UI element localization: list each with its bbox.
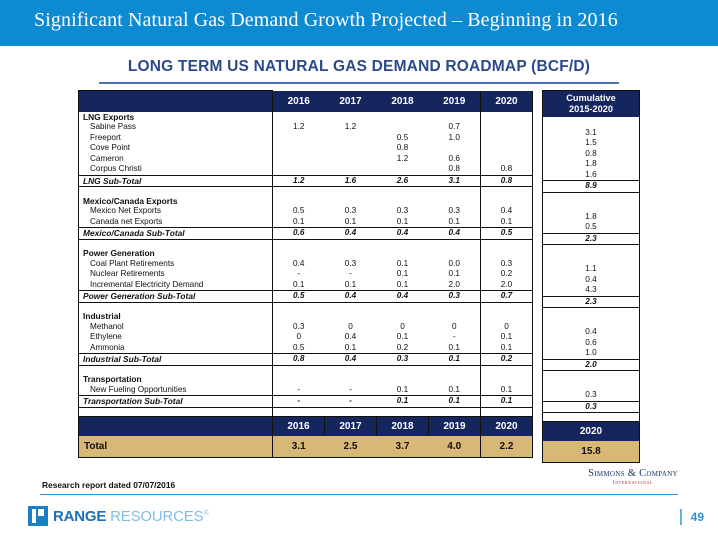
row-cumulative-value: 0.3 xyxy=(543,390,640,401)
table-row-cumulative: 4.3 xyxy=(543,285,640,296)
row-label: Ammonia xyxy=(79,343,273,354)
subtotal-row: LNG Sub-Total1.21.62.63.10.8 xyxy=(79,175,533,187)
totals-value: 4.0 xyxy=(429,436,481,458)
page-number: 49 xyxy=(680,509,704,525)
row-value xyxy=(273,164,325,175)
row-value: 0 xyxy=(273,332,325,343)
row-value: 0.1 xyxy=(377,332,429,343)
table-row: Sabine Pass1.21.20.7 xyxy=(79,122,533,133)
section-title-blank-cumulative xyxy=(543,317,640,328)
section-title-blank xyxy=(429,248,481,259)
table-row: Corpus Christi0.80.8 xyxy=(79,164,533,175)
subtotal-value: 0.1 xyxy=(429,396,481,408)
row-label: Coal Plant Retirements xyxy=(79,259,273,270)
section-title-blank xyxy=(325,196,377,207)
totals-header-row-cumulative: 2020 xyxy=(543,422,640,442)
spacer-cell xyxy=(429,239,481,248)
column-header-2017: 2017 xyxy=(325,91,377,112)
subtotal-cumulative-value: 2.0 xyxy=(543,359,640,371)
totals-spacer-cell xyxy=(273,407,325,416)
table-row-cumulative: 0.6 xyxy=(543,338,640,349)
totals-column-header-2018: 2018 xyxy=(377,416,429,436)
spacer-cell xyxy=(377,302,429,311)
subtotal-row-cumulative: 0.3 xyxy=(543,401,640,413)
row-value xyxy=(325,164,377,175)
row-value: 0.1 xyxy=(481,385,533,396)
table-row: Incremental Electricity Demand0.10.10.12… xyxy=(79,280,533,291)
row-value xyxy=(273,133,325,144)
section-title-blank-cumulative xyxy=(543,117,640,128)
totals-row: Total3.12.53.74.02.2 xyxy=(79,436,533,458)
subtotal-value: 0.5 xyxy=(481,228,533,240)
row-value: 0.1 xyxy=(325,280,377,291)
subtotal-value: 0.4 xyxy=(377,291,429,303)
row-value xyxy=(429,143,481,154)
section-title-blank xyxy=(325,374,377,385)
cumulative-table: Cumulative2015-20203.11.50.81.81.68.91.8… xyxy=(542,90,640,463)
range-logo-text: RANGE RESOURCES® xyxy=(53,508,209,525)
row-value xyxy=(325,154,377,165)
row-cumulative-value: 4.3 xyxy=(543,285,640,296)
row-value: - xyxy=(325,385,377,396)
subtotal-cumulative-value: 2.3 xyxy=(543,233,640,245)
table-row: Ammonia0.50.10.20.10.1 xyxy=(79,343,533,354)
row-label: Corpus Christi xyxy=(79,164,273,175)
table-row-cumulative: 0.3 xyxy=(543,390,640,401)
subtotal-value: 0.3 xyxy=(429,291,481,303)
footer-divider xyxy=(40,494,678,495)
section-title-blank xyxy=(377,248,429,259)
row-value: - xyxy=(325,269,377,280)
section-spacer xyxy=(79,365,533,374)
spacer-cell xyxy=(377,365,429,374)
row-value: 1.2 xyxy=(325,122,377,133)
section-title-blank xyxy=(429,374,481,385)
table-row: Mexico Net Exports0.50.30.30.30.4 xyxy=(79,206,533,217)
row-label: Freeport xyxy=(79,133,273,144)
section-title-blank xyxy=(273,196,325,207)
row-value: 0.1 xyxy=(429,217,481,228)
section-spacer xyxy=(79,187,533,196)
row-cumulative-value: 0.4 xyxy=(543,275,640,286)
table-row-cumulative: 1.8 xyxy=(543,212,640,223)
registered-mark-icon: ® xyxy=(203,510,208,517)
row-cumulative-value: 0.6 xyxy=(543,338,640,349)
subtotal-row: Industrial Sub-Total0.80.40.30.10.2 xyxy=(79,354,533,366)
section-spacer xyxy=(79,239,533,248)
subtotal-value: 0.1 xyxy=(481,396,533,408)
spacer-label xyxy=(79,187,273,196)
table-row-cumulative: 1.5 xyxy=(543,138,640,149)
row-value: 0.8 xyxy=(377,143,429,154)
subtotal-value: 2.6 xyxy=(377,175,429,187)
column-header-2019: 2019 xyxy=(429,91,481,112)
subtotal-row-cumulative: 2.3 xyxy=(543,233,640,245)
row-value: 0.1 xyxy=(429,343,481,354)
section-title-row: Mexico/Canada Exports xyxy=(79,196,533,207)
row-label: Mexico Net Exports xyxy=(79,206,273,217)
row-cumulative-value: 1.0 xyxy=(543,348,640,359)
spacer-cell xyxy=(325,239,377,248)
row-value: 0.1 xyxy=(273,217,325,228)
section-title-blank xyxy=(377,196,429,207)
totals-column-header-2019: 2019 xyxy=(429,416,481,436)
row-value xyxy=(481,143,533,154)
row-value: 0.3 xyxy=(325,206,377,217)
row-value xyxy=(273,143,325,154)
spacer-cell xyxy=(429,365,481,374)
subtotal-value: 1.6 xyxy=(325,175,377,187)
row-value: 0.1 xyxy=(481,343,533,354)
section-title-blank xyxy=(325,248,377,259)
table-row: Canada net Exports0.10.10.10.10.1 xyxy=(79,217,533,228)
section-spacer-cumulative xyxy=(543,245,640,254)
table-row-cumulative: 1.6 xyxy=(543,170,640,181)
row-value: 0.4 xyxy=(273,259,325,270)
row-value: 0 xyxy=(481,322,533,333)
subtotal-value: 3.1 xyxy=(429,175,481,187)
row-value: 0.8 xyxy=(481,164,533,175)
section-title-blank xyxy=(481,196,533,207)
totals-label: Total xyxy=(79,436,273,458)
totals-header-blank xyxy=(79,416,273,436)
section-title-row-cumulative xyxy=(543,117,640,128)
row-value: 0.1 xyxy=(429,269,481,280)
row-value: 0.5 xyxy=(377,133,429,144)
section-title-blank xyxy=(377,311,429,322)
row-value: 2.0 xyxy=(481,280,533,291)
spacer-label xyxy=(79,365,273,374)
row-value: 0.0 xyxy=(429,259,481,270)
subtitle-container: LONG TERM US NATURAL GAS DEMAND ROADMAP … xyxy=(0,58,718,79)
simmons-logo-name: Simmons & Company xyxy=(558,468,708,479)
spacer-cell xyxy=(273,239,325,248)
row-value: 0.1 xyxy=(377,217,429,228)
spacer-cell xyxy=(429,187,481,196)
section-title-blank-cumulative xyxy=(543,254,640,265)
totals-cumulative-header: 2020 xyxy=(543,422,640,442)
section-title-blank xyxy=(377,374,429,385)
cumulative-table-inner: Cumulative2015-20203.11.50.81.81.68.91.8… xyxy=(542,90,640,463)
totals-spacer-cell xyxy=(377,407,429,416)
row-value: 0.4 xyxy=(325,332,377,343)
subtotal-value: 0.4 xyxy=(325,354,377,366)
spacer-cell xyxy=(481,239,533,248)
row-value: 0.1 xyxy=(377,259,429,270)
row-value: 0.2 xyxy=(481,269,533,280)
table-row: Ethylene00.40.1-0.1 xyxy=(79,332,533,343)
table-row: Cove Point0.8 xyxy=(79,143,533,154)
totals-column-header-2017: 2017 xyxy=(325,416,377,436)
main-table: 20162017201820192020LNG ExportsSabine Pa… xyxy=(78,90,533,458)
section-title-lng-exports: LNG Exports xyxy=(79,112,273,123)
row-cumulative-value: 0.5 xyxy=(543,222,640,233)
section-title-blank xyxy=(429,196,481,207)
subtotal-row-cumulative: 2.3 xyxy=(543,296,640,308)
spacer-cell xyxy=(377,239,429,248)
range-logo-light: RESOURCES xyxy=(110,508,203,525)
section-spacer-cumulative xyxy=(543,192,640,201)
subtotal-value: 0.5 xyxy=(273,291,325,303)
row-value xyxy=(325,143,377,154)
cumulative-column-header: Cumulative2015-2020 xyxy=(543,91,640,118)
row-value: 0.2 xyxy=(377,343,429,354)
row-value: 1.2 xyxy=(273,122,325,133)
section-title-row-cumulative xyxy=(543,317,640,328)
spacer-cell xyxy=(325,187,377,196)
subtotal-row: Power Generation Sub-Total0.50.40.40.30.… xyxy=(79,291,533,303)
section-title-blank xyxy=(481,248,533,259)
row-cumulative-value: 1.5 xyxy=(543,138,640,149)
row-cumulative-value: 0.4 xyxy=(543,327,640,338)
row-value: 0.1 xyxy=(273,280,325,291)
subtotal-value: 0.6 xyxy=(273,228,325,240)
page-title: Significant Natural Gas Demand Growth Pr… xyxy=(34,9,618,32)
subtotal-row: Mexico/Canada Sub-Total0.60.40.40.40.5 xyxy=(79,228,533,240)
row-cumulative-value: 3.1 xyxy=(543,128,640,139)
section-title-blank-cumulative xyxy=(543,380,640,391)
subtotal-value: 0.4 xyxy=(429,228,481,240)
column-header-2020: 2020 xyxy=(481,91,533,112)
row-value: 0.3 xyxy=(429,206,481,217)
row-value: - xyxy=(273,269,325,280)
header-blank-cell xyxy=(79,91,273,112)
row-value: 1.0 xyxy=(429,133,481,144)
row-value: 0.7 xyxy=(429,122,481,133)
totals-spacer-cell xyxy=(481,407,533,416)
subtotal-value: 0.1 xyxy=(377,396,429,408)
spacer-cell xyxy=(325,302,377,311)
row-value: 0.1 xyxy=(325,217,377,228)
row-value: 0.3 xyxy=(481,259,533,270)
row-value xyxy=(325,133,377,144)
cumulative-header-row: Cumulative2015-2020 xyxy=(543,91,640,118)
section-title-blank xyxy=(325,112,377,123)
section-spacer-cumulative xyxy=(543,308,640,317)
spacer-cell xyxy=(377,187,429,196)
table-row: Freeport0.51.0 xyxy=(79,133,533,144)
row-value: - xyxy=(429,332,481,343)
row-cumulative-value: 1.6 xyxy=(543,170,640,181)
totals-value: 3.7 xyxy=(377,436,429,458)
spacer-cell xyxy=(481,302,533,311)
spacer-cell-cumulative xyxy=(543,308,640,317)
row-label: New Fueling Opportunities xyxy=(79,385,273,396)
table-row-cumulative: 0.4 xyxy=(543,275,640,286)
subtotal-label: LNG Sub-Total xyxy=(79,175,273,187)
subtotal-value: 0.2 xyxy=(481,354,533,366)
table-row: Methanol0.30000 xyxy=(79,322,533,333)
row-value: 2.0 xyxy=(429,280,481,291)
row-cumulative-value: 1.8 xyxy=(543,159,640,170)
spacer-label xyxy=(79,239,273,248)
section-title-row-cumulative xyxy=(543,254,640,265)
row-value: 0.1 xyxy=(377,280,429,291)
row-value: 0.1 xyxy=(481,217,533,228)
table-row-cumulative: 1.0 xyxy=(543,348,640,359)
subtotal-value: 1.2 xyxy=(273,175,325,187)
totals-value: 2.2 xyxy=(481,436,533,458)
spacer-cell xyxy=(481,365,533,374)
totals-spacer xyxy=(79,407,533,416)
section-title-row: Power Generation xyxy=(79,248,533,259)
section-title-transportation: Transportation xyxy=(79,374,273,385)
section-title-blank xyxy=(273,112,325,123)
table-row-cumulative: 0.8 xyxy=(543,149,640,160)
row-value: 1.2 xyxy=(377,154,429,165)
subtotal-cumulative-value: 8.9 xyxy=(543,181,640,193)
row-value: 0.1 xyxy=(325,343,377,354)
demand-roadmap-table: 20162017201820192020LNG ExportsSabine Pa… xyxy=(78,90,532,458)
row-value: - xyxy=(273,385,325,396)
subtotal-label: Transportation Sub-Total xyxy=(79,396,273,408)
table-row-cumulative: 3.1 xyxy=(543,128,640,139)
subtotal-label: Industrial Sub-Total xyxy=(79,354,273,366)
subtotal-value: 0.4 xyxy=(377,228,429,240)
row-value: 0.1 xyxy=(377,385,429,396)
subtotal-value: - xyxy=(325,396,377,408)
section-title-blank xyxy=(481,112,533,123)
row-label: Ethylene xyxy=(79,332,273,343)
section-title-blank xyxy=(273,374,325,385)
row-value: 0.3 xyxy=(377,206,429,217)
row-value: 0.3 xyxy=(325,259,377,270)
section-title-blank xyxy=(429,311,481,322)
column-header-2018: 2018 xyxy=(377,91,429,112)
totals-spacer-cell-cumulative xyxy=(543,413,640,422)
row-value: 0.3 xyxy=(273,322,325,333)
row-value: 0.6 xyxy=(429,154,481,165)
subtotal-value: 0.8 xyxy=(481,175,533,187)
table-row-cumulative: 0.4 xyxy=(543,327,640,338)
row-value: 0 xyxy=(377,322,429,333)
spacer-cell-cumulative xyxy=(543,245,640,254)
subtotal-cumulative-value: 2.3 xyxy=(543,296,640,308)
section-title-blank xyxy=(481,311,533,322)
section-title-blank xyxy=(325,311,377,322)
column-header-2016: 2016 xyxy=(273,91,325,112)
spacer-cell xyxy=(273,365,325,374)
row-label: Sabine Pass xyxy=(79,122,273,133)
table-row: Nuclear Retirements--0.10.10.2 xyxy=(79,269,533,280)
section-title-mexico-canada-exports: Mexico/Canada Exports xyxy=(79,196,273,207)
totals-column-header-2020: 2020 xyxy=(481,416,533,436)
spacer-cell xyxy=(273,302,325,311)
subtotal-value: 0.7 xyxy=(481,291,533,303)
section-title-blank xyxy=(273,311,325,322)
section-title-row-cumulative xyxy=(543,201,640,212)
section-title-power-generation: Power Generation xyxy=(79,248,273,259)
table-row: New Fueling Opportunities--0.10.10.1 xyxy=(79,385,533,396)
subtotal-label: Power Generation Sub-Total xyxy=(79,291,273,303)
row-value: 0 xyxy=(429,322,481,333)
subtotal-row-cumulative: 8.9 xyxy=(543,181,640,193)
subtotal-value: 0.1 xyxy=(429,354,481,366)
section-title-industrial: Industrial xyxy=(79,311,273,322)
table-row-cumulative: 1.1 xyxy=(543,264,640,275)
table-row-cumulative: 0.5 xyxy=(543,222,640,233)
totals-spacer-cumulative xyxy=(543,413,640,422)
simmons-logo: Simmons & Company International xyxy=(558,468,708,486)
totals-value: 3.1 xyxy=(273,436,325,458)
subtotal-cumulative-value: 0.3 xyxy=(543,401,640,413)
section-title-row-cumulative xyxy=(543,380,640,391)
row-value: 0.1 xyxy=(429,385,481,396)
section-title-blank xyxy=(377,112,429,123)
row-value: 0.8 xyxy=(429,164,481,175)
section-spacer xyxy=(79,302,533,311)
row-value xyxy=(377,164,429,175)
table-header-row: 20162017201820192020 xyxy=(79,91,533,112)
row-cumulative-value: 1.1 xyxy=(543,264,640,275)
subtotal-value: 0.4 xyxy=(325,291,377,303)
subtotal-value: 0.8 xyxy=(273,354,325,366)
spacer-cell xyxy=(481,187,533,196)
section-title-row: LNG Exports xyxy=(79,112,533,123)
section-spacer-cumulative xyxy=(543,371,640,380)
subtotal-row-cumulative: 2.0 xyxy=(543,359,640,371)
row-value: 0.1 xyxy=(377,269,429,280)
spacer-cell xyxy=(325,365,377,374)
subtotal-value: 0.3 xyxy=(377,354,429,366)
row-label: Incremental Electricity Demand xyxy=(79,280,273,291)
row-value: 0.5 xyxy=(273,206,325,217)
section-title-blank xyxy=(273,248,325,259)
totals-header-row: 20162017201820192020 xyxy=(79,416,533,436)
spacer-cell xyxy=(273,187,325,196)
subtotal-value: 0.4 xyxy=(325,228,377,240)
simmons-logo-sub: International xyxy=(558,480,708,486)
section-title-blank xyxy=(481,374,533,385)
totals-value: 2.5 xyxy=(325,436,377,458)
row-value xyxy=(481,122,533,133)
spacer-cell-cumulative xyxy=(543,371,640,380)
row-cumulative-value: 1.8 xyxy=(543,212,640,223)
range-logo-bold: RANGE xyxy=(53,508,106,525)
totals-column-header-2016: 2016 xyxy=(273,416,325,436)
table-row: Coal Plant Retirements0.40.30.10.00.3 xyxy=(79,259,533,270)
row-value xyxy=(481,133,533,144)
subtotal-label: Mexico/Canada Sub-Total xyxy=(79,228,273,240)
row-value: 0.1 xyxy=(481,332,533,343)
row-label: Cameron xyxy=(79,154,273,165)
section-title-blank-cumulative xyxy=(543,201,640,212)
row-label: Canada net Exports xyxy=(79,217,273,228)
totals-row-cumulative: 15.8 xyxy=(543,441,640,463)
totals-cumulative-value: 15.8 xyxy=(543,441,640,463)
spacer-label xyxy=(79,302,273,311)
totals-spacer-label xyxy=(79,407,273,416)
range-logo-mark-icon xyxy=(28,506,48,526)
table-row: Cameron1.20.6 xyxy=(79,154,533,165)
row-label: Nuclear Retirements xyxy=(79,269,273,280)
row-value xyxy=(481,154,533,165)
totals-spacer-cell xyxy=(429,407,481,416)
spacer-cell-cumulative xyxy=(543,192,640,201)
row-label: Methanol xyxy=(79,322,273,333)
totals-spacer-cell xyxy=(325,407,377,416)
section-title-blank xyxy=(429,112,481,123)
row-value: 0.5 xyxy=(273,343,325,354)
chart-subtitle: LONG TERM US NATURAL GAS DEMAND ROADMAP … xyxy=(128,58,590,79)
row-label: Cove Point xyxy=(79,143,273,154)
table-row-cumulative: 1.8 xyxy=(543,159,640,170)
row-value xyxy=(377,122,429,133)
row-value: 0 xyxy=(325,322,377,333)
subtotal-value: - xyxy=(273,396,325,408)
section-title-row: Industrial xyxy=(79,311,533,322)
research-note: Research report dated 07/07/2016 xyxy=(42,480,175,490)
